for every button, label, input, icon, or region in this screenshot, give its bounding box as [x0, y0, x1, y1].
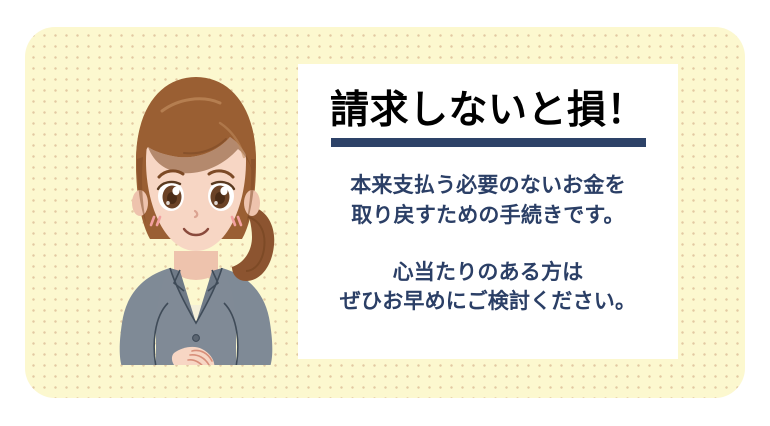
- paragraph-2: 心当たりのある方は ぜひお早めにご検討ください。: [340, 258, 636, 318]
- title-underline-bar: [331, 138, 646, 147]
- business-woman-illustration: [96, 55, 296, 365]
- message-card: 請求しないと損！ 本来支払う必要のないお金を 取り戻すための手続きです。 心当た…: [298, 64, 678, 359]
- paragraph-1-line-2: 取り戻すための手続きです。: [350, 201, 626, 231]
- paragraph-2-line-1: 心当たりのある方は: [340, 258, 636, 288]
- page-title: 請求しないと損！: [330, 91, 646, 132]
- paragraph-2-line-2: ぜひお早めにご検討ください。: [340, 287, 636, 317]
- paragraph-1: 本来支払う必要のないお金を 取り戻すための手続きです。: [350, 171, 626, 231]
- slide-canvas: 請求しないと損！ 本来支払う必要のないお金を 取り戻すための手続きです。 心当た…: [0, 0, 770, 426]
- paragraph-1-line-1: 本来支払う必要のないお金を: [350, 171, 626, 201]
- eye-left: [158, 181, 184, 211]
- eye-right: [208, 181, 234, 211]
